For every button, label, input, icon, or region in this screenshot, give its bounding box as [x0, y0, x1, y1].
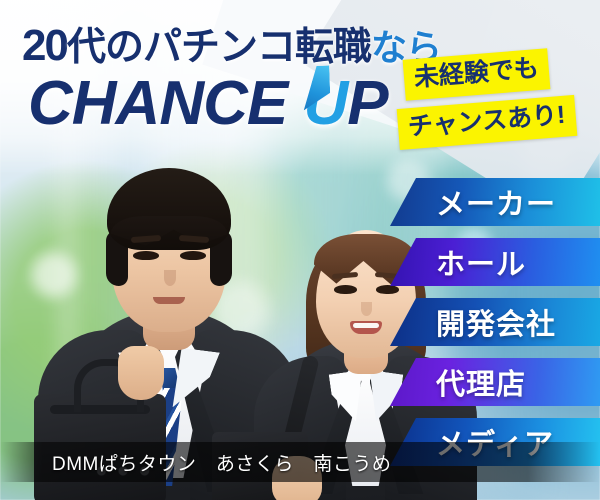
- headline-chance-text: CHANCE: [28, 69, 303, 138]
- category-label: ホール: [436, 241, 526, 283]
- category-button-developer[interactable]: 開発会社: [390, 298, 600, 346]
- man-eye-right: [180, 251, 206, 260]
- category-button-hall[interactable]: ホール: [390, 238, 600, 286]
- caption-bar: DMMぱちタウン あさくら 南こうめ: [0, 442, 600, 482]
- category-label: 開発会社: [436, 301, 556, 343]
- woman-teeth: [353, 323, 379, 328]
- woman-eye-left: [334, 285, 357, 294]
- category-label: メーカー: [436, 181, 556, 223]
- man-nose: [164, 270, 176, 286]
- headline-line-2: CHANCE UP: [28, 68, 388, 139]
- badge-line-2: チャンスあり!: [397, 95, 577, 150]
- man-eye-left: [133, 251, 159, 260]
- category-button-maker[interactable]: メーカー: [390, 178, 600, 226]
- man-mouth: [153, 297, 185, 304]
- headline-line-1-text: 代のパチンコ転職: [67, 26, 371, 69]
- category-label: 代理店: [436, 361, 526, 403]
- headline-line-1: 20代のパチンコ転職なら: [22, 16, 441, 72]
- woman-nose: [361, 302, 372, 316]
- category-button-agency[interactable]: 代理店: [390, 358, 600, 406]
- badge-line-1: 未経験でも: [403, 48, 551, 100]
- headline-number: 20: [22, 21, 67, 70]
- category-list: メーカー ホール 開発会社 代理店 メディア: [390, 178, 600, 478]
- badge-block: 未経験でも チャンスあり!: [398, 54, 598, 158]
- man-hand: [118, 346, 164, 400]
- advertisement-banner[interactable]: 20代のパチンコ転職なら CHANCE UP 未経験でも チャンスあり! メーカ…: [0, 0, 600, 500]
- headline-p-letter: P: [347, 69, 387, 138]
- caption-text: DMMぱちタウン あさくら 南こうめ: [52, 449, 391, 476]
